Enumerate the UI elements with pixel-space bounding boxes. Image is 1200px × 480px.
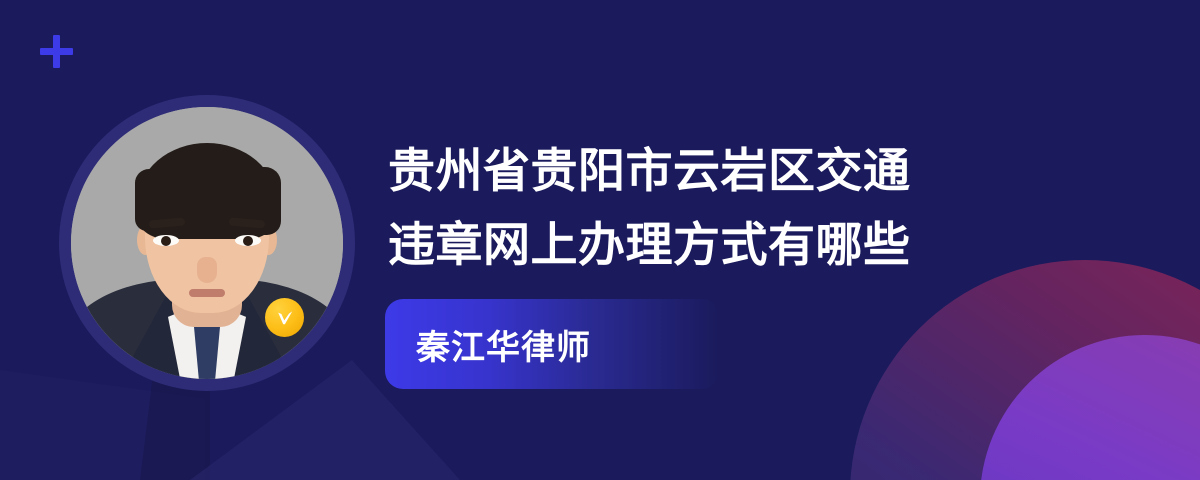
decorative-arc-magenta <box>850 260 1200 480</box>
author-name-label: 秦江华律师 <box>416 320 591 369</box>
avatar <box>59 95 355 391</box>
author-badge: 秦江华律师 <box>385 299 720 389</box>
page-title: 贵州省贵阳市云岩区交通 违章网上办理方式有哪些 <box>388 134 1088 282</box>
verified-v-icon <box>265 298 304 337</box>
decorative-arc-violet <box>980 335 1200 480</box>
plus-icon <box>40 35 73 68</box>
lawyer-portrait-photo <box>71 107 343 379</box>
lawyer-article-banner: 贵州省贵阳市云岩区交通 违章网上办理方式有哪些 秦江华律师 <box>0 0 1200 480</box>
